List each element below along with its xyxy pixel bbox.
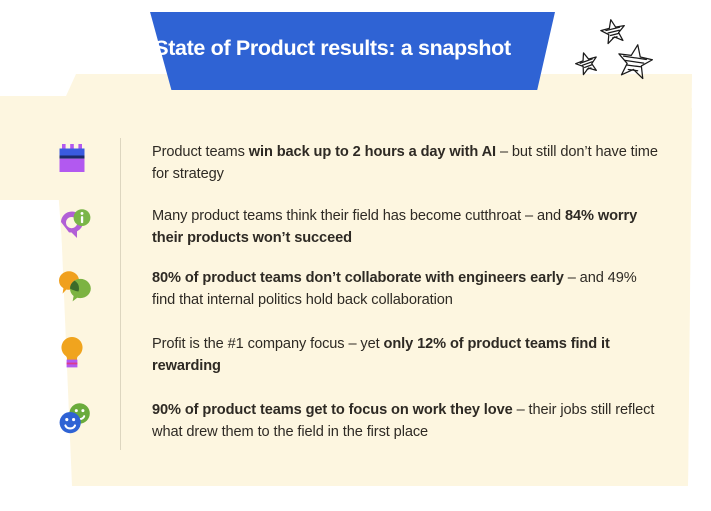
- stat-text: Profit is the #1 company focus – yet onl…: [120, 334, 658, 377]
- stat-text-emphasis: 90% of product teams get to focus on wor…: [152, 402, 513, 418]
- lightbulb-icon: [58, 336, 86, 370]
- stats-list: Product teams win back up to 2 hours a d…: [0, 120, 711, 465]
- stat-icon-slot: [58, 142, 120, 176]
- stat-text-plain: Many product teams think their field has…: [152, 208, 565, 224]
- list-item: Many product teams think their field has…: [58, 206, 658, 249]
- stat-text: 80% of product teams don’t collaborate w…: [120, 268, 658, 311]
- star-icon: [573, 50, 600, 76]
- stat-icon-slot: [58, 206, 120, 242]
- list-item: Profit is the #1 company focus – yet onl…: [58, 334, 658, 377]
- two-smiley-faces-icon: [58, 402, 92, 434]
- calendar-icon: [58, 144, 88, 176]
- list-item: 90% of product teams get to focus on wor…: [58, 400, 658, 443]
- page-title: State of Product results: a snapshot: [110, 12, 555, 90]
- stat-icon-slot: [58, 334, 120, 370]
- stat-text-emphasis: win back up to 2 hours a day with AI: [249, 144, 496, 160]
- stat-icon-slot: [58, 400, 120, 434]
- stat-text: Product teams win back up to 2 hours a d…: [120, 142, 658, 185]
- list-item: 80% of product teams don’t collaborate w…: [58, 268, 658, 311]
- stat-text: 90% of product teams get to focus on wor…: [120, 400, 658, 443]
- star-icon: [599, 17, 627, 44]
- two-speech-bubbles-icon: [58, 270, 92, 302]
- list-item: Product teams win back up to 2 hours a d…: [58, 142, 658, 185]
- stat-icon-slot: [58, 268, 120, 302]
- speech-bubble-info-icon: [58, 208, 92, 242]
- stat-text: Many product teams think their field has…: [120, 206, 658, 249]
- stat-text-plain: Product teams: [152, 144, 249, 160]
- hand-drawn-stars-decoration: [560, 12, 675, 97]
- stat-text-plain: Profit is the #1 company focus – yet: [152, 336, 384, 352]
- title-banner: State of Product results: a snapshot: [110, 12, 555, 90]
- stat-text-emphasis: 80% of product teams don’t collaborate w…: [152, 270, 564, 286]
- star-icon: [615, 42, 654, 80]
